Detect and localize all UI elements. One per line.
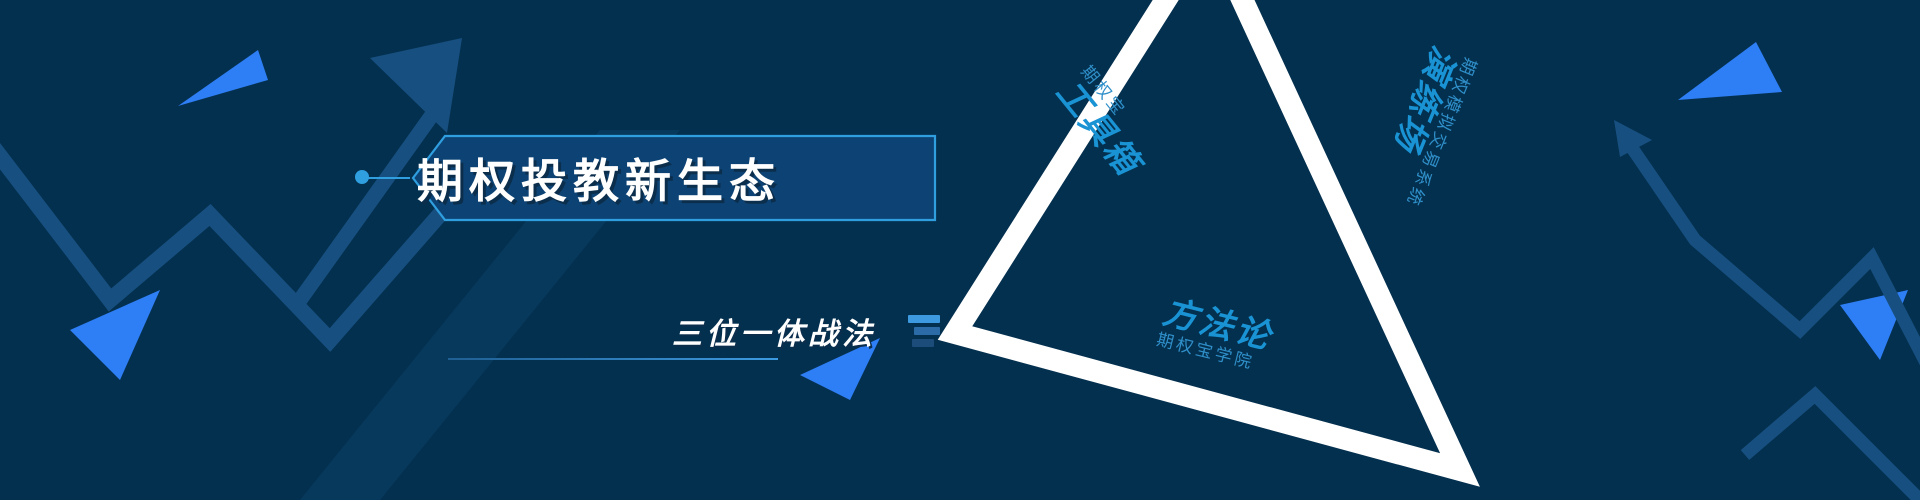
promo-banner: 期权投教新生态 三位一体战法 期权宝 工具箱 期权模拟交易系统 演练场 方法论 … <box>0 0 1920 500</box>
subtitle-row: 三位一体战法 <box>520 305 940 357</box>
stacked-bars-icon <box>902 314 940 348</box>
background-decorations <box>0 0 1920 500</box>
triangle-shard <box>70 50 268 380</box>
triangle-shard <box>1678 42 1908 360</box>
pillar-label-toolbox[interactable]: 期权宝 工具箱 <box>1048 62 1161 184</box>
subtitle-text: 三位一体战法 <box>672 309 876 353</box>
pillar-label-methodology[interactable]: 方法论 期权宝学院 <box>1154 295 1275 376</box>
headline-tag: 期权投教新生态 <box>355 128 955 228</box>
subtitle-divider <box>448 358 778 360</box>
pillar-label-simulator[interactable]: 期权模拟交易系统 演练场 <box>1368 41 1480 210</box>
triangle-framework <box>955 0 1460 470</box>
page-title: 期权投教新生态 <box>417 142 937 214</box>
zigzag-line-icon <box>1614 120 1920 500</box>
